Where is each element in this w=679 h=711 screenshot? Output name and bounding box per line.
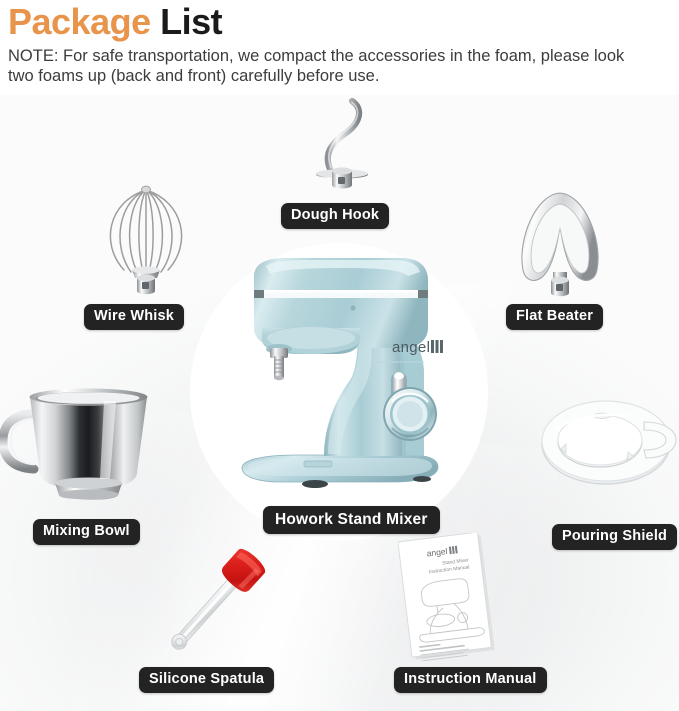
brand-mark: angel xyxy=(392,339,443,356)
header: Package List NOTE: For safe transportati… xyxy=(8,2,668,86)
flat-beater-image xyxy=(505,186,615,304)
label-pouring-shield: Pouring Shield xyxy=(552,524,677,550)
page-title: Package List xyxy=(8,2,668,42)
label-stand-mixer: Howork Stand Mixer xyxy=(263,506,440,534)
label-instruction-manual: Instruction Manual xyxy=(394,667,547,693)
pouring-shield-image xyxy=(540,382,679,504)
label-dough-hook: Dough Hook xyxy=(281,203,389,229)
package-list-infographic: Package List NOTE: For safe transportati… xyxy=(0,0,679,711)
label-silicone-spatula: Silicone Spatula xyxy=(139,667,274,693)
label-mixing-bowl: Mixing Bowl xyxy=(33,519,140,545)
label-flat-beater: Flat Beater xyxy=(506,304,603,330)
wire-whisk-image xyxy=(84,178,209,298)
title-accent-word: Package xyxy=(8,1,151,42)
mixing-bowl-image xyxy=(0,375,182,500)
silicone-spatula-image xyxy=(148,543,278,668)
label-wire-whisk: Wire Whisk xyxy=(84,304,184,330)
title-main-word: List xyxy=(160,1,222,42)
instruction-manual-image: angel Stand Mixer Instruction Manual xyxy=(398,533,503,661)
svg-text:angel: angel xyxy=(392,339,430,356)
transport-note: NOTE: For safe transportation, we compac… xyxy=(8,46,633,86)
stand-mixer-image: angel xyxy=(232,252,460,500)
dough-hook-image xyxy=(296,97,396,197)
